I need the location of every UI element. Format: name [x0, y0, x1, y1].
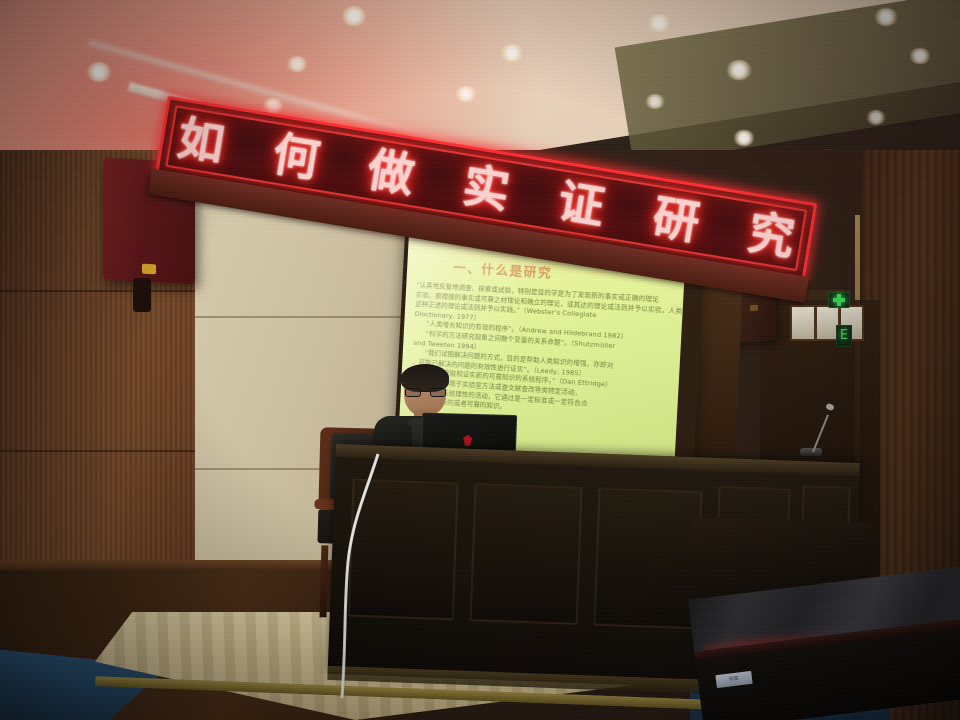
speaker-badge-icon	[142, 264, 156, 275]
microphone-base	[800, 448, 822, 456]
glasses-lens-left	[405, 388, 421, 397]
recessed-downlight	[645, 94, 665, 109]
podium-panel	[470, 483, 583, 625]
recessed-downlight	[286, 56, 308, 72]
recessed-downlight	[909, 48, 931, 64]
recessed-downlight	[500, 44, 524, 62]
recessed-downlight	[733, 130, 755, 146]
presenter-glasses	[405, 388, 446, 397]
banner-char: 究	[745, 209, 798, 262]
first-aid-cross-icon	[828, 292, 850, 308]
exit-sign: E	[836, 325, 852, 347]
banner-char: 证	[555, 177, 608, 230]
chair-leg	[320, 545, 329, 617]
recessed-downlight	[874, 8, 898, 26]
laptop-logo-icon	[463, 435, 472, 446]
recessed-downlight	[455, 86, 477, 102]
glasses-lens-right	[430, 388, 446, 397]
podium-panel	[348, 479, 459, 621]
banner-char: 何	[270, 130, 323, 183]
banner-char: 研	[650, 193, 703, 246]
recessed-downlight	[726, 60, 752, 80]
lecture-hall-photo: E 一、什么是研究 “认真地反复地调查、探索或试验，特别是目的学是为了发现新的事…	[0, 0, 960, 720]
recessed-downlight	[647, 14, 671, 32]
podium-panel	[594, 488, 703, 630]
glasses-bridge	[421, 391, 430, 392]
banner-char: 如	[175, 115, 228, 168]
recessed-downlight	[86, 62, 112, 82]
speaker-mount-bracket	[133, 278, 151, 312]
recessed-downlight	[341, 6, 367, 26]
banner-char: 实	[460, 162, 513, 215]
banner-char: 做	[365, 146, 418, 199]
recessed-downlight	[866, 110, 886, 125]
